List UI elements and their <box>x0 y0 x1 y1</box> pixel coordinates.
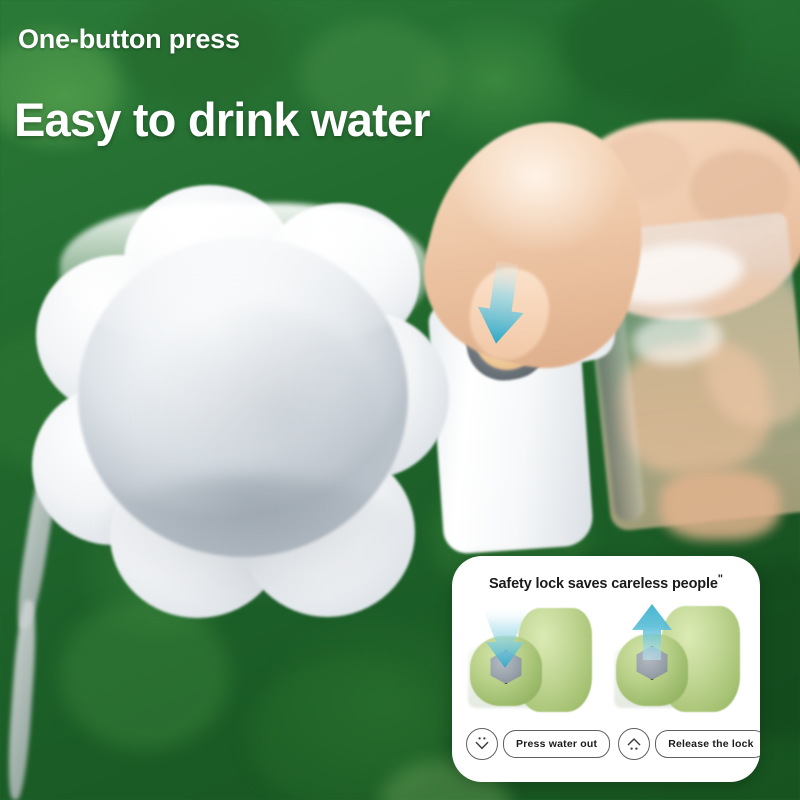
chevron-down-icon <box>466 728 498 760</box>
kicker-text: One-button press <box>18 26 240 53</box>
card-title-suffix: " <box>718 573 723 585</box>
caption-release-the-lock[interactable]: Release the lock <box>618 728 760 760</box>
demo-images <box>462 602 750 718</box>
demo-release-the-lock <box>608 602 750 718</box>
card-title-text: Safety lock saves careless people <box>489 576 718 592</box>
demo-press-water-out <box>462 602 604 718</box>
product-marketing-image: One-button press Easy to drink water Saf… <box>0 0 800 800</box>
fingers-below-bottle <box>660 470 780 540</box>
arrow-down-overlay-icon <box>476 606 534 672</box>
bowl-bottom-shadow <box>92 475 412 605</box>
caption-pill: Release the lock <box>655 730 760 758</box>
page-title: Easy to drink water <box>14 96 430 143</box>
arrow-up-overlay-icon <box>630 604 674 660</box>
card-title: Safety lock saves careless people" <box>452 573 760 592</box>
chevron-up-icon <box>618 728 650 760</box>
caption-pill: Press water out <box>503 730 610 758</box>
caption-label: Release the lock <box>668 738 754 750</box>
caption-press-water-out[interactable]: Press water out <box>466 728 610 760</box>
caption-label: Press water out <box>516 738 597 750</box>
demo-captions: Press water out Release the lock <box>466 728 748 760</box>
paw-bowl <box>32 185 452 630</box>
safety-lock-card: Safety lock saves careless people" <box>452 556 760 782</box>
